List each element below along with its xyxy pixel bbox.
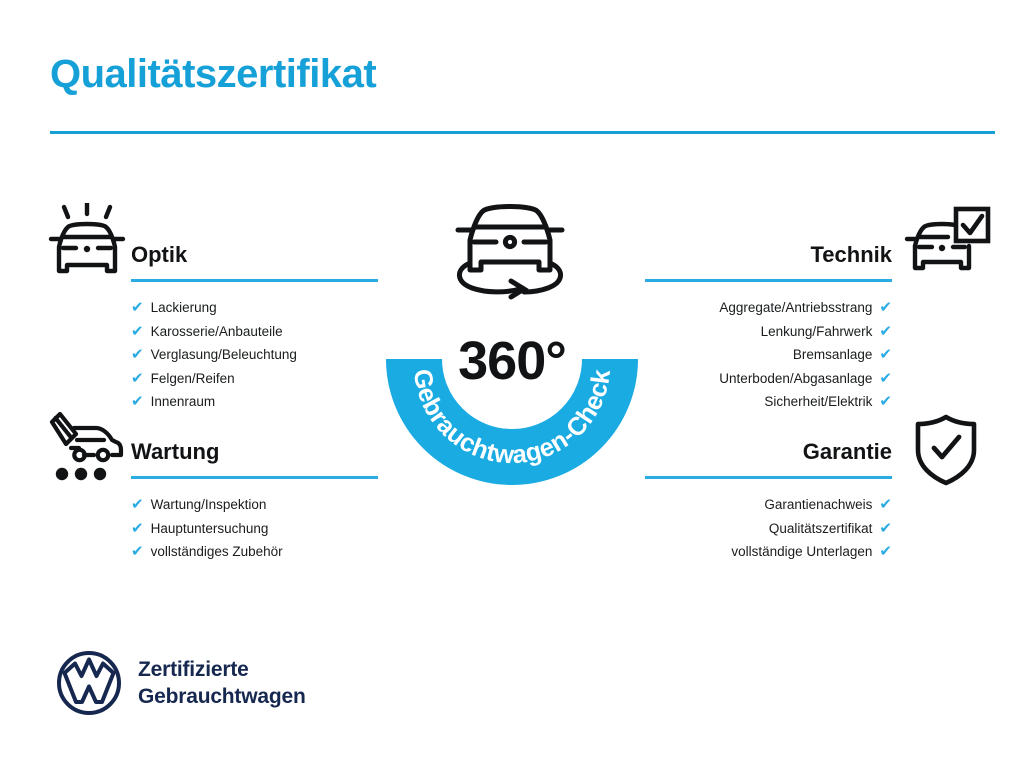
section-garantie: Garantie Garantienachweis ✔ Qualitätszer… bbox=[645, 437, 892, 564]
section-divider bbox=[645, 279, 892, 282]
shield-check-icon bbox=[908, 412, 984, 488]
footer-text: Zertifizierte Gebrauchtwagen bbox=[138, 656, 306, 710]
section-divider bbox=[131, 279, 378, 282]
list-item-label: vollständige Unterlagen bbox=[731, 540, 872, 564]
check-icon: ✔ bbox=[131, 371, 144, 386]
footer-line-2: Gebrauchtwagen bbox=[138, 683, 306, 710]
list-item: Garantienachweis ✔ bbox=[645, 493, 892, 517]
check-icon: ✔ bbox=[879, 497, 892, 512]
list-item: Sicherheit/Elektrik ✔ bbox=[645, 390, 892, 414]
list-item: Unterboden/Abgasanlage ✔ bbox=[645, 367, 892, 391]
check-icon: ✔ bbox=[879, 300, 892, 315]
check-icon: ✔ bbox=[131, 521, 144, 536]
footer-line-1: Zertifizierte bbox=[138, 656, 306, 683]
check-icon: ✔ bbox=[879, 324, 892, 339]
check-icon: ✔ bbox=[131, 324, 144, 339]
list-item-label: Wartung/Inspektion bbox=[151, 493, 267, 517]
list-item-label: Unterboden/Abgasanlage bbox=[719, 367, 872, 391]
badge-degree-label: 360° bbox=[378, 330, 646, 392]
checklist-technik: Aggregate/Antriebsstrang ✔ Lenkung/Fahrw… bbox=[645, 296, 892, 414]
section-title-wartung: Wartung bbox=[131, 437, 378, 467]
volkswagen-logo bbox=[56, 650, 122, 716]
section-header: Technik bbox=[645, 240, 892, 282]
list-item-label: Verglasung/Beleuchtung bbox=[151, 343, 297, 367]
list-item: ✔ Verglasung/Beleuchtung bbox=[131, 343, 378, 367]
list-item-label: Lenkung/Fahrwerk bbox=[761, 320, 873, 344]
list-item-label: Aggregate/Antriebsstrang bbox=[719, 296, 872, 320]
list-item-label: Qualitätszertifikat bbox=[769, 517, 873, 541]
page-title: Qualitätszertifikat bbox=[50, 52, 376, 96]
check-icon: ✔ bbox=[879, 521, 892, 536]
certificate-page: Qualitätszertifikat bbox=[0, 0, 1024, 768]
section-title-technik: Technik bbox=[645, 240, 892, 270]
list-item-label: Hauptuntersuchung bbox=[151, 517, 269, 541]
list-item: ✔ Karosserie/Anbauteile bbox=[131, 320, 378, 344]
list-item-label: Sicherheit/Elektrik bbox=[764, 390, 872, 414]
section-technik: Technik Aggregate/Antriebsstrang ✔ Lenku… bbox=[645, 240, 892, 414]
list-item: ✔ vollständiges Zubehör bbox=[131, 540, 378, 564]
list-item-label: Innenraum bbox=[151, 390, 216, 414]
car-polish-icon bbox=[46, 203, 128, 283]
check-icon: ✔ bbox=[131, 544, 144, 559]
checklist-garantie: Garantienachweis ✔ Qualitätszertifikat ✔… bbox=[645, 493, 892, 564]
list-item-label: Lackierung bbox=[151, 296, 217, 320]
car-rotate-icon bbox=[448, 196, 572, 300]
section-wartung: Wartung ✔ Wartung/Inspektion ✔ Hauptunte… bbox=[131, 437, 378, 564]
title-divider bbox=[50, 131, 995, 134]
list-item: Bremsanlage ✔ bbox=[645, 343, 892, 367]
section-header: Optik bbox=[131, 240, 378, 282]
section-optik: Optik ✔ Lackierung ✔ Karosserie/Anbautei… bbox=[131, 240, 378, 414]
list-item: ✔ Lackierung bbox=[131, 296, 378, 320]
list-item-label: Bremsanlage bbox=[793, 343, 873, 367]
list-item: Qualitätszertifikat ✔ bbox=[645, 517, 892, 541]
section-title-optik: Optik bbox=[131, 240, 378, 270]
check-icon: ✔ bbox=[131, 394, 144, 409]
check-icon: ✔ bbox=[131, 347, 144, 362]
section-divider bbox=[645, 476, 892, 479]
section-divider bbox=[131, 476, 378, 479]
section-header: Wartung bbox=[131, 437, 378, 479]
list-item-label: Karosserie/Anbauteile bbox=[151, 320, 283, 344]
check-icon: ✔ bbox=[879, 371, 892, 386]
list-item: ✔ Innenraum bbox=[131, 390, 378, 414]
list-item: ✔ Felgen/Reifen bbox=[131, 367, 378, 391]
list-item: Aggregate/Antriebsstrang ✔ bbox=[645, 296, 892, 320]
check-icon: ✔ bbox=[131, 497, 144, 512]
pencil-car-icon bbox=[46, 412, 128, 484]
checklist-wartung: ✔ Wartung/Inspektion ✔ Hauptuntersuchung… bbox=[131, 493, 378, 564]
check-icon: ✔ bbox=[879, 544, 892, 559]
check-icon: ✔ bbox=[879, 394, 892, 409]
checklist-optik: ✔ Lackierung ✔ Karosserie/Anbauteile ✔ V… bbox=[131, 296, 378, 414]
list-item: ✔ Hauptuntersuchung bbox=[131, 517, 378, 541]
list-item-label: Felgen/Reifen bbox=[151, 367, 235, 391]
check-icon: ✔ bbox=[131, 300, 144, 315]
list-item: Lenkung/Fahrwerk ✔ bbox=[645, 320, 892, 344]
list-item-label: Garantienachweis bbox=[764, 493, 872, 517]
list-item-label: vollständiges Zubehör bbox=[151, 540, 283, 564]
list-item: ✔ Wartung/Inspektion bbox=[131, 493, 378, 517]
section-header: Garantie bbox=[645, 437, 892, 479]
footer-brand: Zertifizierte Gebrauchtwagen bbox=[56, 650, 306, 716]
car-checkbox-icon bbox=[903, 206, 991, 278]
section-title-garantie: Garantie bbox=[645, 437, 892, 467]
check-icon: ✔ bbox=[879, 347, 892, 362]
list-item: vollständige Unterlagen ✔ bbox=[645, 540, 892, 564]
